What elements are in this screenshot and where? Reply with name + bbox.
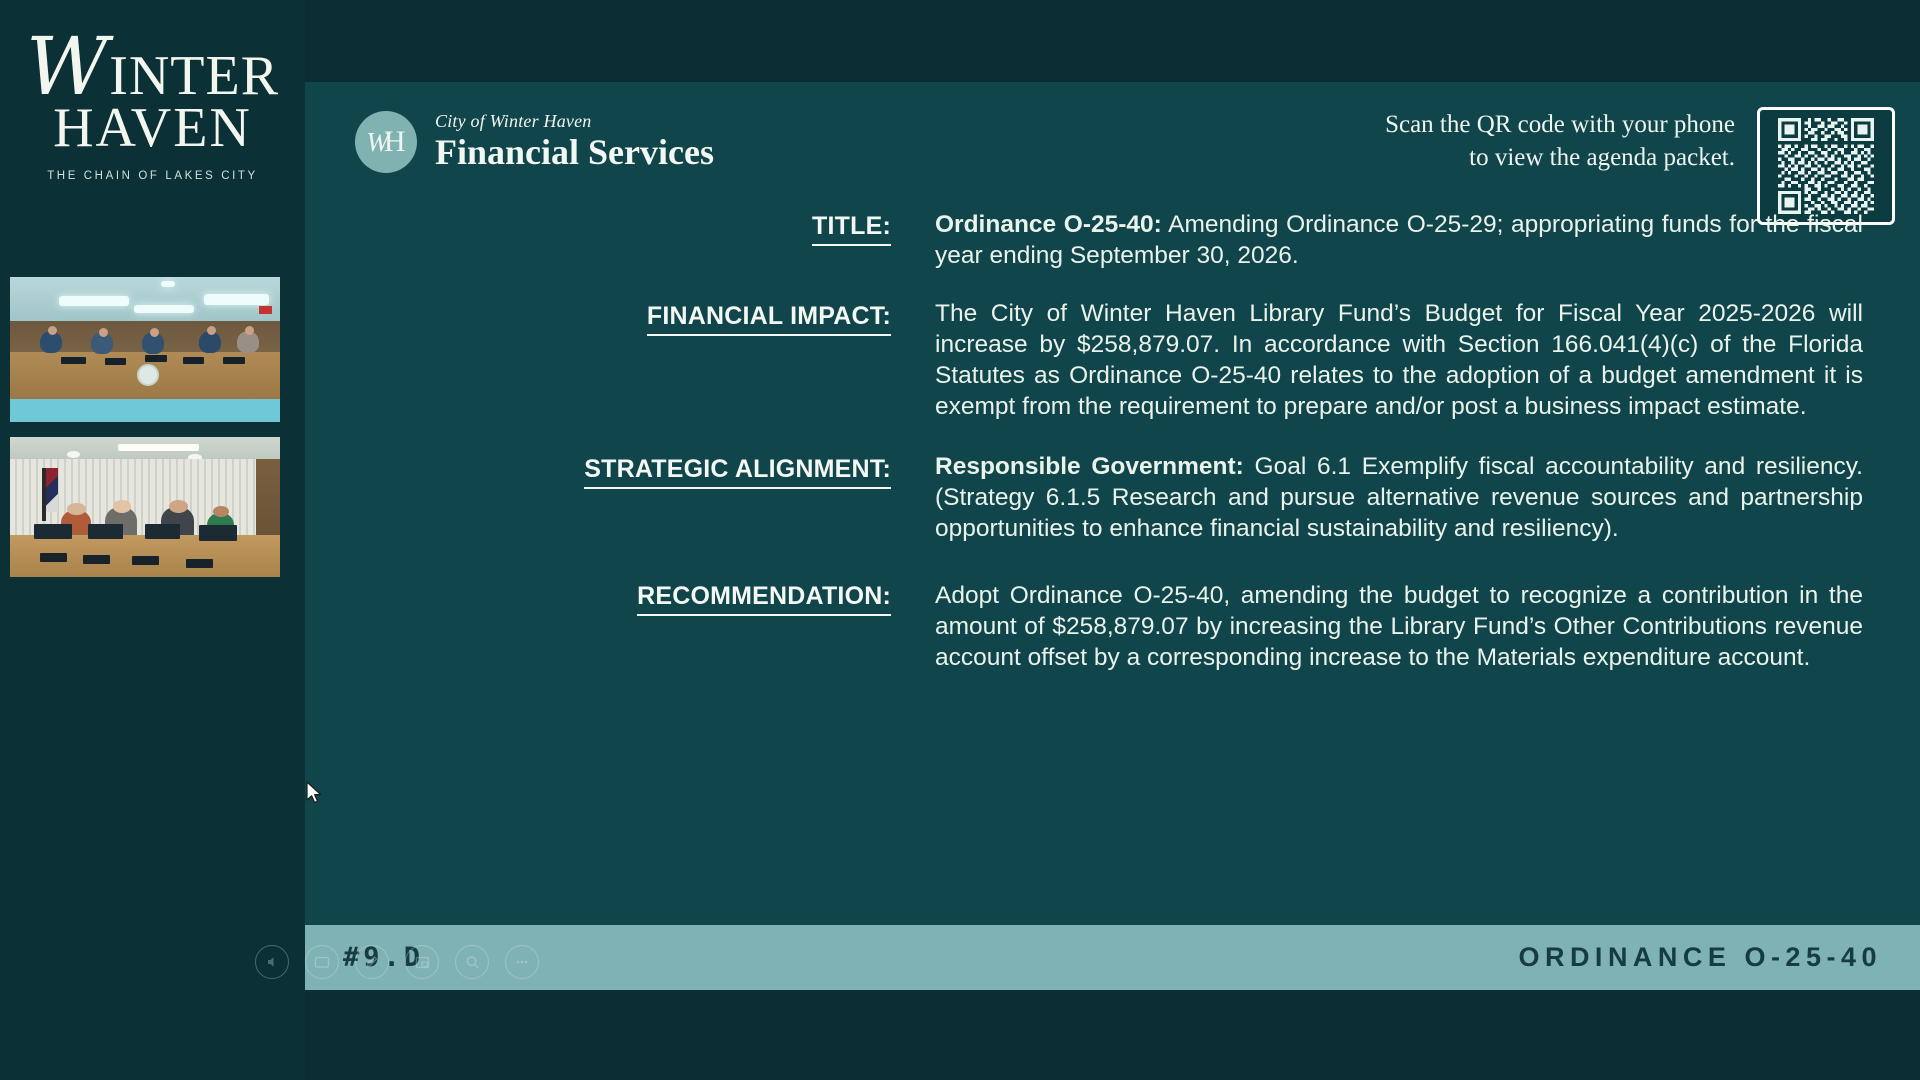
wh-monogram-badge: WH (355, 111, 417, 173)
sidebar: WINTER HAVEN THE CHAIN OF LAKES CITY (0, 0, 305, 1080)
row-financial-impact: FINANCIAL IMPACT: The City of Winter Hav… (305, 299, 1920, 423)
qr-instruction: Scan the QR code with your phone to view… (1335, 108, 1735, 174)
city-logo-tagline: THE CHAIN OF LAKES CITY (0, 170, 305, 182)
broadcast-viewer: WINTER HAVEN THE CHAIN OF LAKES CITY (0, 0, 1920, 1080)
row-title-body: Ordinance O-25-40: Amending Ordinance O-… (935, 210, 1863, 272)
presentation-slide: WH City of Winter Haven Financial Servic… (305, 82, 1920, 990)
thumb2-monitor-4 (199, 525, 237, 540)
thumb2-head-4 (213, 506, 229, 517)
slide-footer-bar: #9.D ORDINANCE O-25-40 (305, 925, 1920, 990)
row-strategic-alignment-body: Responsible Government: Goal 6.1 Exempli… (935, 452, 1863, 545)
financial-services-logo: WH City of Winter Haven Financial Servic… (355, 111, 714, 173)
city-logo: WINTER HAVEN THE CHAIN OF LAKES CITY (0, 30, 305, 182)
city-logo-winter: WINTER (0, 30, 305, 104)
thumb2-light-bar (118, 444, 199, 451)
thumb1-light-dot (161, 281, 175, 287)
thumb2-monitor-3 (145, 524, 180, 539)
row-financial-impact-label: FINANCIAL IMPACT: (305, 299, 935, 423)
thumb2-flagpole (42, 468, 46, 521)
thumb1-nameplate-1 (61, 357, 85, 364)
thumb2-nameplate-3 (132, 556, 159, 565)
row-title-bold-lead: Ordinance O-25-40: (935, 211, 1162, 238)
row-strategic-bold-lead: Responsible Government: (935, 453, 1244, 480)
council-members-dais-view[interactable] (10, 437, 280, 577)
volume-icon[interactable] (255, 945, 289, 979)
thumb2-right-wall (256, 459, 280, 537)
thumb1-city-seal (137, 364, 159, 386)
thumb1-floor (10, 399, 280, 422)
thumb1-nameplate-5 (223, 357, 245, 364)
thumb2-head-3 (169, 500, 188, 513)
qr-instruction-line1: Scan the QR code with your phone (1335, 108, 1735, 141)
thumb2-monitor-2 (88, 524, 123, 539)
thumb1-nameplate-4 (183, 357, 205, 364)
thumb2-nameplate-4 (186, 559, 213, 568)
more-options-icon[interactable] (505, 945, 539, 979)
slide-content-rows: TITLE: Ordinance O-25-40: Amending Ordin… (305, 210, 1920, 700)
thumb1-light-center (134, 305, 193, 314)
qr-instruction-line2: to view the agenda packet. (1335, 141, 1735, 174)
department-name: Financial Services (435, 133, 714, 173)
row-financial-impact-body: The City of Winter Haven Library Fund’s … (935, 299, 1863, 423)
thumb2-head-2 (113, 500, 132, 513)
thumb2-downlight-left (67, 451, 81, 458)
ordinance-title: ORDINANCE O-25-40 (1518, 942, 1882, 973)
thumb2-nameplate-2 (83, 555, 110, 564)
monogram-h: H (384, 125, 406, 159)
department-eyebrow: City of Winter Haven (435, 111, 714, 132)
annotate-pencil-icon[interactable] (355, 945, 389, 979)
row-strategic-alignment: STRATEGIC ALIGNMENT: Responsible Governm… (305, 452, 1920, 545)
thumb2-nameplate-1 (40, 553, 67, 562)
thumb1-exit-sign (259, 306, 272, 314)
thumb2-head-1 (67, 503, 86, 516)
player-controls[interactable] (255, 945, 539, 979)
thumb1-nameplate-3 (145, 355, 167, 362)
mouse-cursor (305, 781, 325, 807)
qr-code-frame[interactable] (1757, 107, 1895, 225)
department-text: City of Winter Haven Financial Services (435, 111, 714, 173)
council-chamber-wide-view[interactable] (10, 277, 280, 422)
row-recommendation-label: RECOMMENDATION: (305, 579, 935, 674)
thumb1-head-2 (99, 328, 108, 337)
row-recommendation-body: Adopt Ordinance O-25-40, amending the bu… (935, 579, 1863, 674)
row-title: TITLE: Ordinance O-25-40: Amending Ordin… (305, 210, 1920, 272)
closed-caption-icon[interactable] (305, 945, 339, 979)
picture-in-picture-icon[interactable] (405, 945, 439, 979)
thumb1-light-right (204, 294, 269, 304)
thumb2-monitor-1 (34, 524, 72, 539)
thumb1-light-left (59, 296, 129, 306)
zoom-search-icon[interactable] (455, 945, 489, 979)
row-recommendation: RECOMMENDATION: Adopt Ordinance O-25-40,… (305, 579, 1920, 674)
row-strategic-alignment-label: STRATEGIC ALIGNMENT: (305, 452, 935, 545)
qr-code-icon (1770, 118, 1882, 214)
thumb1-nameplate-2 (105, 358, 127, 365)
row-title-label: TITLE: (305, 210, 935, 272)
